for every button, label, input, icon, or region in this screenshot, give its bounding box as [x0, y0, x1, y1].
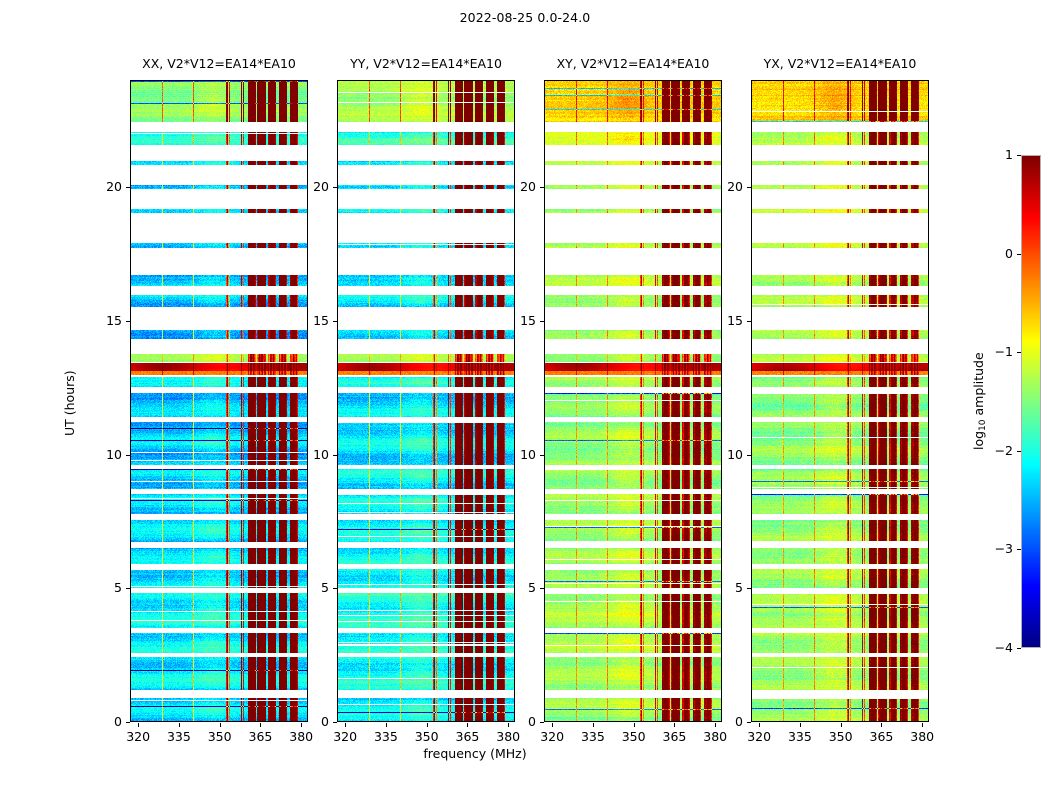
panel-xy-ytick [540, 455, 544, 456]
panel-xy-ytick-label: 0 [500, 714, 536, 729]
panel-xy-title: XY, V2*V12=EA14*EA10 [544, 56, 722, 71]
panel-yy-ytick-label: 15 [293, 313, 329, 328]
panel-yx-ytick-label: 15 [707, 313, 743, 328]
panel-xy-ytick-label: 15 [500, 313, 536, 328]
panel-xx-ytick-label: 5 [86, 580, 122, 595]
panel-yx-ytick [747, 187, 751, 188]
panel-xx-xtick-label: 380 [276, 729, 326, 744]
panel-yx-ytick [747, 455, 751, 456]
panel-yy[interactable] [337, 80, 515, 722]
panel-yy-xtick [467, 723, 468, 727]
panel-xx-ytick [126, 455, 130, 456]
panel-yx-title: YX, V2*V12=EA14*EA10 [751, 56, 929, 71]
panel-yy-ytick-label: 20 [293, 179, 329, 194]
panel-yx-xtick [800, 723, 801, 727]
panel-xx-xtick [138, 723, 139, 727]
panel-yy-title: YY, V2*V12=EA14*EA10 [337, 56, 515, 71]
panel-yy-ytick-label: 5 [293, 580, 329, 595]
panel-xx-xtick [179, 723, 180, 727]
colorbar-tick [1017, 155, 1021, 156]
panel-xx-ytick [126, 321, 130, 322]
colorbar-label: log10 amplitude [971, 352, 988, 450]
panel-yx-ytick [747, 722, 751, 723]
figure-canvas: 2022-08-25 0.0-24.0 XX, V2*V12=EA14*EA10… [0, 0, 1050, 800]
panel-yy-ytick [333, 321, 337, 322]
panel-yy-waterfall [338, 81, 515, 722]
panel-xx[interactable] [130, 80, 308, 722]
panel-yx-ytick [747, 588, 751, 589]
y-axis-label: UT (hours) [62, 370, 77, 436]
panel-xy-xtick [674, 723, 675, 727]
colorbar-tick-label: 1 [975, 147, 1013, 162]
panel-yx-xtick-label: 380 [897, 729, 947, 744]
panel-xx-ytick [126, 187, 130, 188]
panel-xy-ytick-label: 20 [500, 179, 536, 194]
panel-yy-xtick [386, 723, 387, 727]
panel-yx[interactable] [751, 80, 929, 722]
panel-xx-xtick [260, 723, 261, 727]
panel-xx-title: XX, V2*V12=EA14*EA10 [130, 56, 308, 71]
colorbar[interactable] [1021, 155, 1041, 648]
colorbar-gradient [1022, 156, 1041, 648]
colorbar-tick [1017, 254, 1021, 255]
panel-yy-ytick-label: 10 [293, 447, 329, 462]
colorbar-tick-label: −3 [975, 541, 1013, 556]
panel-xx-ytick-label: 0 [86, 714, 122, 729]
panel-yy-ytick-label: 0 [293, 714, 329, 729]
panel-yx-ytick-label: 20 [707, 179, 743, 194]
panel-yx-xtick [881, 723, 882, 727]
panel-xx-xtick [220, 723, 221, 727]
panel-xy-ytick-label: 5 [500, 580, 536, 595]
panel-xx-waterfall [131, 81, 308, 722]
panel-yy-xtick [427, 723, 428, 727]
panel-yx-xtick [922, 723, 923, 727]
panel-yx-waterfall [752, 81, 929, 722]
panel-yx-ytick-label: 0 [707, 714, 743, 729]
panel-yx-xtick [759, 723, 760, 727]
panel-xy-ytick [540, 321, 544, 322]
colorbar-label-base: log [971, 430, 986, 449]
panel-xy-xtick [634, 723, 635, 727]
panel-xy-xtick [552, 723, 553, 727]
colorbar-tick [1017, 352, 1021, 353]
panel-xy-xtick [593, 723, 594, 727]
figure-suptitle: 2022-08-25 0.0-24.0 [0, 10, 1050, 25]
panel-xy-ytick-label: 10 [500, 447, 536, 462]
colorbar-tick [1017, 451, 1021, 452]
panel-xx-ytick-label: 15 [86, 313, 122, 328]
colorbar-tick [1017, 549, 1021, 550]
panel-xx-ytick-label: 10 [86, 447, 122, 462]
colorbar-label-subscript: 10 [978, 419, 988, 430]
panel-xy-ytick [540, 722, 544, 723]
panel-xy-ytick [540, 187, 544, 188]
panel-yy-xtick-label: 380 [483, 729, 533, 744]
colorbar-label-rest: amplitude [971, 352, 986, 419]
colorbar-tick [1017, 648, 1021, 649]
colorbar-tick-label: 0 [975, 246, 1013, 261]
panel-yy-ytick [333, 722, 337, 723]
panel-yy-ytick [333, 588, 337, 589]
panel-yy-ytick [333, 187, 337, 188]
colorbar-tick-label: −4 [975, 640, 1013, 655]
panel-xx-ytick [126, 588, 130, 589]
panel-yx-xtick [841, 723, 842, 727]
x-axis-label: frequency (MHz) [0, 746, 1050, 761]
panel-xy-xtick-label: 380 [690, 729, 740, 744]
panel-yx-ytick [747, 321, 751, 322]
panel-xx-ytick [126, 722, 130, 723]
panel-xy-waterfall [545, 81, 722, 722]
panel-yx-ytick-label: 10 [707, 447, 743, 462]
panel-yy-xtick [345, 723, 346, 727]
panel-yy-ytick [333, 455, 337, 456]
panel-xy-ytick [540, 588, 544, 589]
panel-xy[interactable] [544, 80, 722, 722]
panel-yx-ytick-label: 5 [707, 580, 743, 595]
panel-xx-ytick-label: 20 [86, 179, 122, 194]
